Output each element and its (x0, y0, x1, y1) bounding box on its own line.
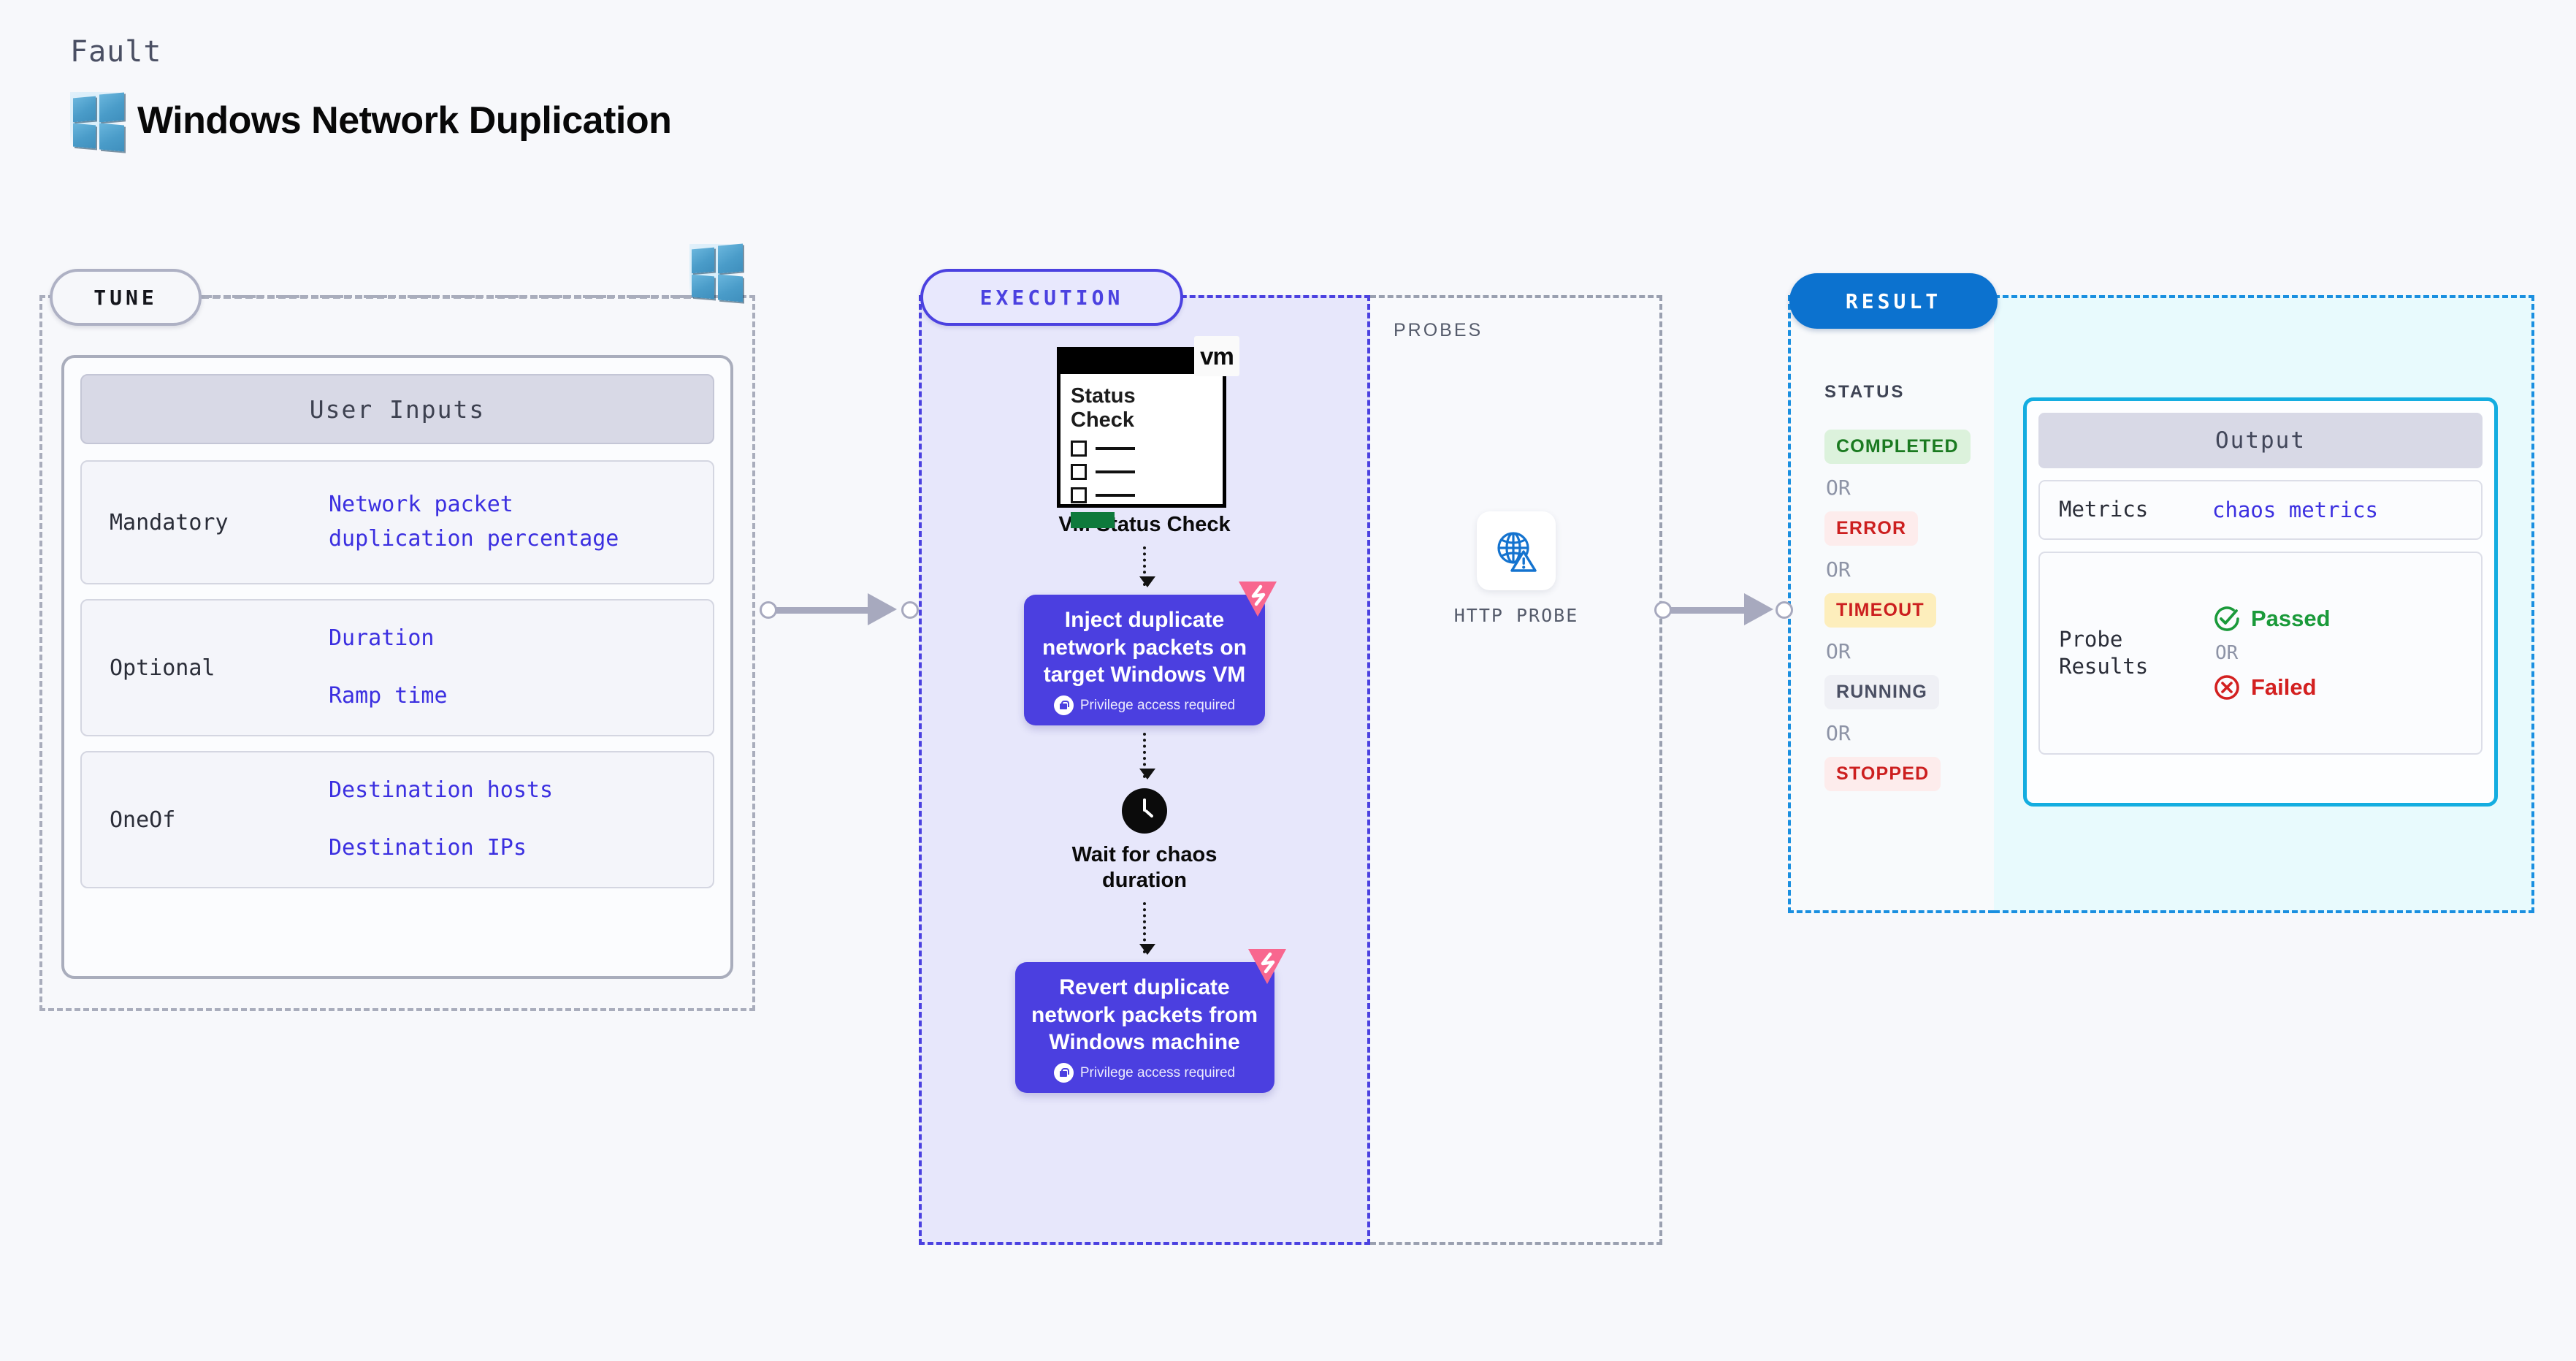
status-badge-list: COMPLETED OR ERROR OR TIMEOUT OR RUNNING… (1824, 430, 1985, 791)
output-row-key: Probe Results (2059, 626, 2212, 680)
output-row-metrics: Metrics chaos metrics (2038, 480, 2483, 540)
probe-result-failed: Failed (2212, 673, 2331, 702)
probes-label: PROBES (1394, 320, 1483, 341)
tune-row-mandatory: Mandatory Network packet duplication per… (80, 460, 714, 584)
probe-result-passed: Passed (2212, 604, 2331, 633)
status-badge: TIMEOUT (1824, 593, 1936, 628)
tune-row-value: Network packet (329, 489, 619, 521)
tune-row-value: Duration (329, 623, 448, 655)
or-separator: OR (1826, 476, 1985, 500)
litmus-chaos-ribbon-icon (1236, 580, 1278, 618)
vm-badge-icon: vm (1194, 336, 1239, 376)
privilege-note: Privilege access required (1040, 695, 1249, 715)
tune-row-value: Destination IPs (329, 833, 553, 864)
globe-warning-icon (1477, 511, 1556, 590)
tune-header-divider (202, 295, 691, 299)
step-caption-wait: Wait for chaos duration (1039, 842, 1250, 893)
tune-row-key: OneOf (110, 807, 329, 833)
probe-caption: HTTP PROBE (1454, 605, 1579, 626)
tune-row-key: Optional (110, 655, 329, 681)
page-header: Fault Windows Network Duplication (70, 35, 671, 149)
user-inputs-card: User Inputs Mandatory Network packet dup… (61, 355, 733, 979)
x-circle-icon (2212, 673, 2241, 702)
probes-section-frame (1370, 295, 1662, 1245)
vm-icon-title: Status Check (1071, 384, 1223, 433)
execution-step-title: Inject duplicate network packets on targ… (1040, 606, 1249, 689)
output-row-probe-results: Probe Results Passed OR Failed (2038, 552, 2483, 755)
fault-kicker: Fault (70, 35, 671, 69)
status-badge: COMPLETED (1824, 430, 1971, 464)
tune-row-value: duplication percentage (329, 524, 619, 555)
result-section-pill[interactable]: RESULT (1789, 273, 1998, 329)
windows-logo-icon (70, 92, 127, 149)
connector-tune-to-execution (760, 588, 928, 632)
output-card: Output Metrics chaos metrics Probe Resul… (2023, 397, 2498, 807)
status-badge: ERROR (1824, 511, 1918, 546)
lock-icon (1054, 1063, 1074, 1083)
or-separator: OR (1826, 557, 1985, 582)
probe-result-label: Passed (2251, 606, 2331, 632)
tune-row-oneof: OneOf Destination hosts Destination IPs (80, 751, 714, 888)
page-title: Windows Network Duplication (137, 99, 671, 142)
execution-step-title: Revert duplicate network packets from Wi… (1031, 974, 1258, 1056)
privilege-note: Privilege access required (1031, 1063, 1258, 1083)
tune-row-key: Mandatory (110, 510, 329, 535)
fault-title-row: Windows Network Duplication (70, 92, 671, 149)
flow-arrow (1143, 733, 1146, 778)
connector-probes-to-result (1654, 588, 1800, 632)
litmus-chaos-ribbon-icon (1245, 948, 1288, 986)
probe-result-label: Failed (2251, 674, 2317, 701)
or-separator: OR (1826, 721, 1985, 745)
execution-step-revert[interactable]: Revert duplicate network packets from Wi… (1015, 962, 1274, 1093)
or-separator: OR (1826, 639, 1985, 663)
status-badge: RUNNING (1824, 675, 1939, 709)
status-badge: STOPPED (1824, 757, 1941, 791)
probe-item-http[interactable]: HTTP PROBE (1443, 511, 1589, 626)
windows-logo-icon (689, 244, 745, 300)
user-inputs-header: User Inputs (80, 374, 714, 444)
clock-icon (1122, 788, 1167, 834)
lock-icon (1054, 695, 1074, 715)
execution-flow: Status Check vm VM Status Check Inject d… (919, 336, 1370, 1093)
vm-status-check-icon: Status Check vm (1057, 336, 1232, 508)
tune-row-value: Ramp time (329, 681, 448, 712)
status-label: STATUS (1824, 382, 1905, 403)
check-circle-icon (2212, 604, 2241, 633)
metrics-value[interactable]: chaos metrics (2212, 497, 2378, 522)
tune-row-value: Destination hosts (329, 775, 553, 807)
execution-step-inject[interactable]: Inject duplicate network packets on targ… (1024, 595, 1265, 725)
flow-arrow (1143, 546, 1146, 586)
flow-arrow (1143, 902, 1146, 953)
execution-section-pill[interactable]: EXECUTION (920, 269, 1183, 326)
output-row-key: Metrics (2059, 496, 2212, 523)
or-separator: OR (2215, 642, 2331, 664)
output-header: Output (2038, 413, 2483, 468)
tune-section-pill[interactable]: TUNE (50, 269, 202, 326)
tune-row-optional: Optional Duration Ramp time (80, 599, 714, 736)
